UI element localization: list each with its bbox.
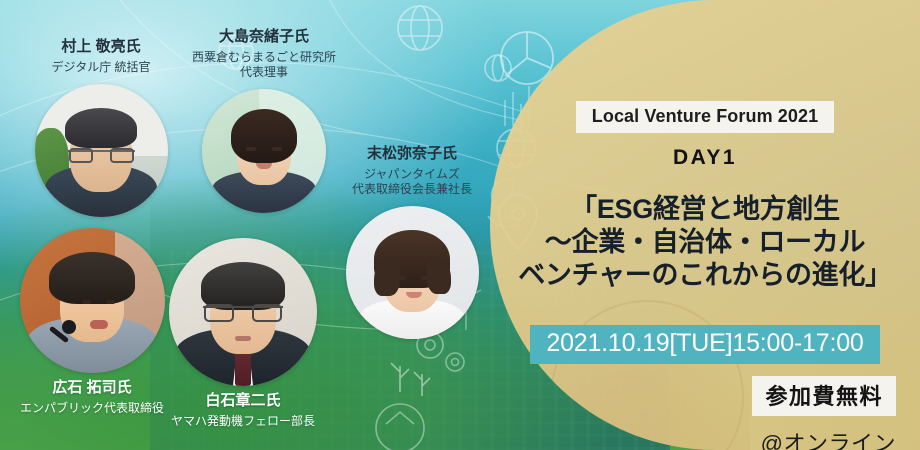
speaker-role-line-2: 代表理事 [176,65,352,81]
speaker-photo [346,206,479,339]
speaker-role: エンパブリック代表取締役 [10,401,174,417]
speaker-card-murakami: 村上 敬亮氏 デジタル庁 統括官 [18,38,184,217]
speaker-photo [35,84,168,217]
speaker-name: 村上 敬亮氏 [18,38,184,57]
date-time-bar: 2021.10.19[TUE]15:00-17:00 [530,325,879,364]
speaker-card-oshima: 大島奈緒子氏 西粟倉むらまるごと研究所 代表理事 [176,28,352,213]
speaker-name: 大島奈緒子氏 [176,28,352,47]
speaker-role: デジタル庁 統括官 [18,60,184,76]
speaker-card-suematsu: 末松弥奈子氏 ジャパンタイムズ 代表取締役会長兼社長 [332,145,492,339]
day-label: DAY1 [673,146,737,170]
speaker-photo [20,228,165,373]
venue-label: @オンライン [761,426,896,450]
forum-badge: Local Venture Forum 2021 [576,101,834,133]
title-line-3: ベンチャーのこれからの進化」 [518,259,892,292]
speaker-role-line-2: 代表取締役会長兼社長 [332,182,492,198]
speaker-role-line-1: ジャパンタイムズ [332,167,492,183]
speaker-name: 広石 拓司氏 [10,379,174,398]
speaker-photo [202,89,326,213]
speaker-photo [169,238,317,386]
event-title: 「ESG経営と地方創生 ～企業・自治体・ローカル ベンチャーのこれからの進化」 [518,193,892,292]
event-banner: Local Venture Forum 2021 DAY1 「ESG経営と地方創… [0,0,920,450]
speaker-name: 末松弥奈子氏 [332,145,492,164]
speaker-card-hiroishi: 広石 拓司氏 エンパブリック代表取締役 [10,228,174,416]
title-line-2: ～企業・自治体・ローカル [518,226,892,259]
speaker-role: ヤマハ発動機フェロー部長 [158,414,328,430]
speaker-card-shiraishi: 白石章二氏 ヤマハ発動機フェロー部長 [158,238,328,429]
fee-badge: 参加費無料 [752,376,896,416]
panel-content: Local Venture Forum 2021 DAY1 「ESG経営と地方創… [490,0,920,450]
speaker-role-line-1: 西粟倉むらまるごと研究所 [176,50,352,66]
title-line-1: 「ESG経営と地方創生 [518,193,892,226]
speaker-name: 白石章二氏 [158,392,328,411]
